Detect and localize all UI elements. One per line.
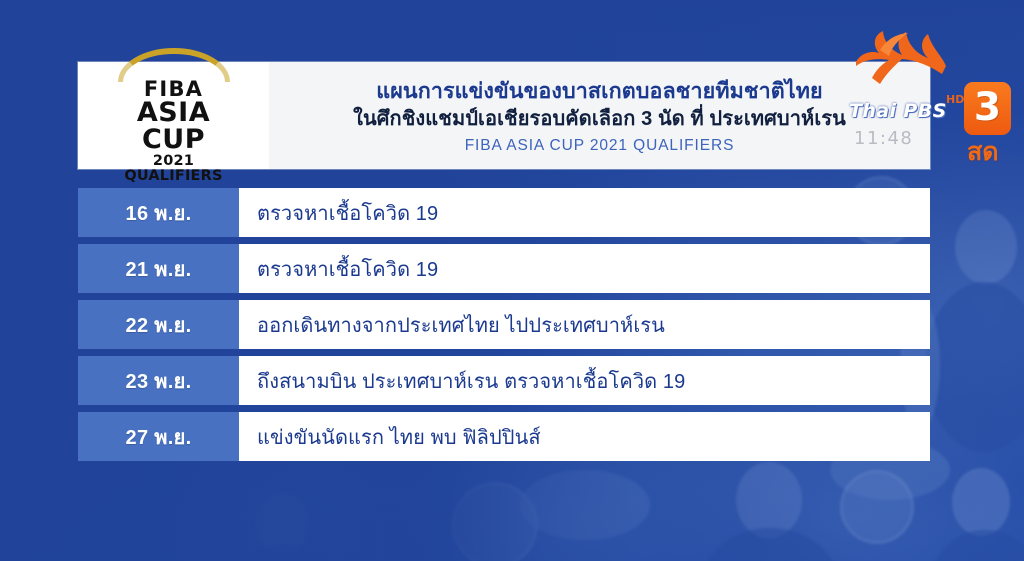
table-row: 16 พ.ย. ตรวจหาเชื้อโควิด 19 [78,188,930,237]
page-title: แผนการแข่งขันของบาสเกตบอลชายทีมชาติไทย [376,79,822,104]
fiba-logo-line2: ASIA CUP [108,99,240,153]
fiba-asia-cup-logo: FIBA ASIA CUP 2021 QUALIFIERS [108,48,240,183]
row-event: ถึงสนามบิน ประเทศบาห์เรน ตรวจหาเชื้อโควิ… [239,356,930,405]
fiba-logo-cell: FIBA ASIA CUP 2021 QUALIFIERS [78,62,269,169]
table-row: 27 พ.ย. แข่งขันนัดแรก ไทย พบ ฟิลิปปินส์ [78,412,930,461]
row-event: แข่งขันนัดแรก ไทย พบ ฟิลิปปินส์ [239,412,930,461]
thai-pbs-wordmark: Thai PBS [849,100,947,122]
header-card: FIBA ASIA CUP 2021 QUALIFIERS แผนการแข่ง… [78,62,930,169]
row-event: ตรวจหาเชื้อโควิด 19 [239,188,930,237]
row-date: 21 พ.ย. [78,244,239,293]
thai-pbs-bird-icon [850,26,946,100]
page-subtitle-english: FIBA ASIA CUP 2021 QUALIFIERS [465,137,735,155]
hd-badge: HD [946,93,964,106]
channel-brand-bug: Thai PBS HD 3 สด [842,26,1014,146]
broadcast-graphic: FIBA ASIA CUP 2021 QUALIFIERS แผนการแข่ง… [0,0,1024,561]
row-date: 22 พ.ย. [78,300,239,349]
live-badge: สด [967,132,999,172]
channel-number-badge: 3 [964,82,1011,135]
row-date: 27 พ.ย. [78,412,239,461]
fiba-logo-line3: 2021 QUALIFIERS [108,154,240,183]
row-event: ตรวจหาเชื้อโควิด 19 [239,244,930,293]
row-date: 23 พ.ย. [78,356,239,405]
header-title-block: แผนการแข่งขันของบาสเกตบอลชายทีมชาติไทย ใ… [269,62,930,169]
row-date: 16 พ.ย. [78,188,239,237]
table-row: 23 พ.ย. ถึงสนามบิน ประเทศบาห์เรน ตรวจหาเ… [78,356,930,405]
row-event: ออกเดินทางจากประเทศไทย ไปประเทศบาห์เรน [239,300,930,349]
table-row: 22 พ.ย. ออกเดินทางจากประเทศไทย ไปประเทศบ… [78,300,930,349]
table-row: 21 พ.ย. ตรวจหาเชื้อโควิด 19 [78,244,930,293]
schedule-table: 16 พ.ย. ตรวจหาเชื้อโควิด 19 21 พ.ย. ตรวจ… [78,188,930,461]
page-subtitle: ในศึกชิงแชมป์เอเชียรอบคัดเลือก 3 นัด ที่… [353,107,846,132]
channel-number: 3 [974,88,1001,127]
